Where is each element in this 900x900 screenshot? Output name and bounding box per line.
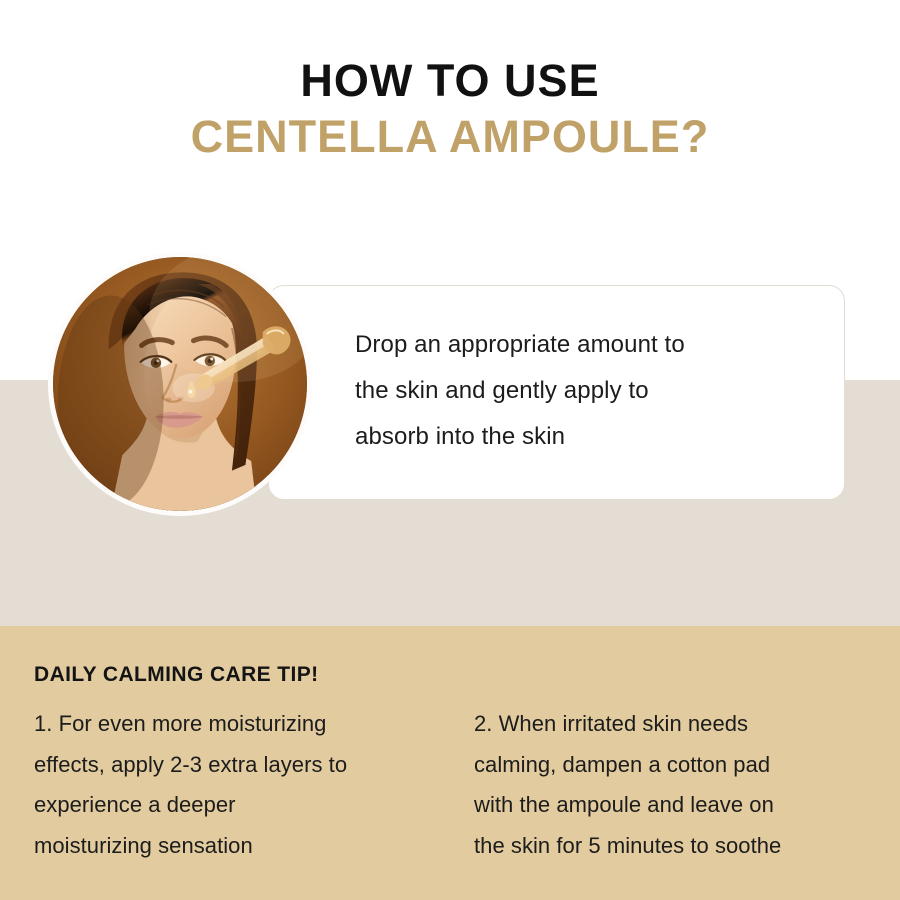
instruction-line: absorb into the skin	[355, 414, 805, 460]
page-title-secondary: CENTELLA AMPOULE?	[0, 112, 900, 162]
tip-line: 2. When irritated skin needs	[474, 704, 884, 745]
infographic-page: HOW TO USE CENTELLA AMPOULE? Drop an app…	[0, 0, 900, 900]
tip-line: 1. For even more moisturizing	[34, 704, 454, 745]
daily-care-tips-section: DAILY CALMING CARE TIP! 1. For even more…	[0, 626, 900, 900]
tip-column-1: 1. For even more moisturizing effects, a…	[34, 704, 454, 867]
tip-line: with the ampoule and leave on	[474, 785, 884, 826]
tip-line: the skin for 5 minutes to soothe	[474, 826, 884, 867]
instruction-line: Drop an appropriate amount to	[355, 322, 805, 368]
page-title-block: HOW TO USE CENTELLA AMPOULE?	[0, 56, 900, 163]
model-photo-inner	[53, 257, 307, 511]
model-photo-illustration	[53, 257, 307, 511]
tips-heading: DAILY CALMING CARE TIP!	[34, 663, 319, 687]
page-title-primary: HOW TO USE	[0, 56, 900, 106]
instruction-line: the skin and gently apply to	[355, 368, 805, 414]
tip-line: experience a deeper	[34, 785, 454, 826]
instruction-card-text: Drop an appropriate amount to the skin a…	[355, 322, 805, 460]
tip-line: moisturizing sensation	[34, 826, 454, 867]
model-photo	[48, 252, 312, 516]
tip-line: effects, apply 2-3 extra layers to	[34, 745, 454, 786]
tip-line: calming, dampen a cotton pad	[474, 745, 884, 786]
tip-column-2: 2. When irritated skin needs calming, da…	[474, 704, 884, 867]
instruction-card: Drop an appropriate amount to the skin a…	[268, 285, 845, 500]
